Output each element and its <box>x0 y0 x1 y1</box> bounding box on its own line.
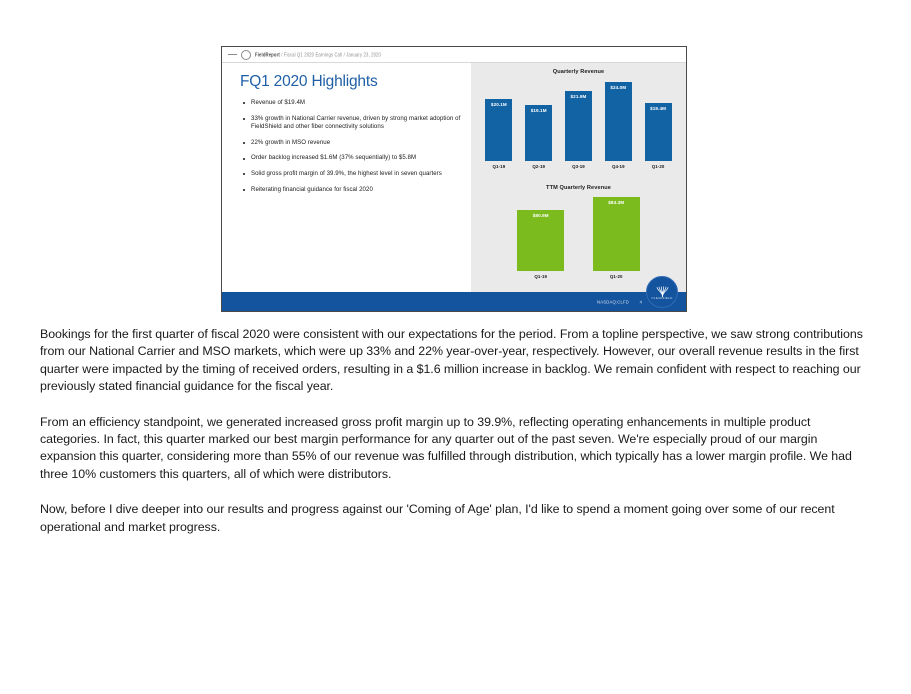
ttm-revenue-plot: $80.9M Q1-19 $84.3M Q1-20 <box>503 197 654 279</box>
bar-category-label: Q4-19 <box>612 164 625 169</box>
bar-column: $20.1M Q1-19 <box>479 81 519 169</box>
chart-title: Quarterly Revenue <box>471 65 686 75</box>
bullet-item: 33% growth in National Carrier revenue, … <box>240 115 461 132</box>
bar-value-label: $80.9M <box>533 213 549 218</box>
bar-column: $24.0M Q4-19 <box>598 81 638 169</box>
transcript-paragraph: Bookings for the first quarter of fiscal… <box>40 326 872 396</box>
bar-q1-19: $20.1M <box>485 99 512 161</box>
slide-page-number: 4 <box>640 299 642 304</box>
slide-header-bar: FieldReport / Fiscal Q1 2020 Earnings Ca… <box>222 47 686 63</box>
bar-q3-19: $21.9M <box>565 91 592 161</box>
slide-bullet-list: Revenue of $19.4M 33% growth in National… <box>240 99 461 194</box>
fiber-burst-icon <box>656 284 669 295</box>
slide-title: FQ1 2020 Highlights <box>240 73 461 91</box>
bar-column: $19.4M Q1-20 <box>638 81 678 169</box>
bullet-item: Order backlog increased $1.6M (37% seque… <box>240 154 461 163</box>
transcript-body: Bookings for the first quarter of fiscal… <box>40 326 872 554</box>
bar-category-label: Q1-19 <box>534 274 547 279</box>
slide-breadcrumb: FieldReport / Fiscal Q1 2020 Earnings Ca… <box>255 51 381 57</box>
bar-value-label: $19.1M <box>531 108 547 113</box>
bar-value-label: $24.0M <box>610 85 626 90</box>
bullet-item: 22% growth in MSO revenue <box>240 139 461 148</box>
slide-brand-label: FieldReport <box>255 51 280 57</box>
bar-value-label: $84.3M <box>608 200 624 205</box>
header-dash-icon <box>228 54 237 55</box>
bar-q2-19: $19.1M <box>525 105 552 161</box>
bar-column: $21.9M Q3-19 <box>559 81 599 169</box>
presentation-slide: FieldReport / Fiscal Q1 2020 Earnings Ca… <box>221 46 687 312</box>
bar-value-label: $20.1M <box>491 102 507 107</box>
bar-category-label: Q1-20 <box>652 164 665 169</box>
slide-content-panel: FQ1 2020 Highlights Revenue of $19.4M 33… <box>222 63 471 292</box>
bar-column: $80.9M Q1-19 <box>503 197 579 279</box>
bar-category-label: Q3-19 <box>572 164 585 169</box>
transcript-paragraph: Now, before I dive deeper into our resul… <box>40 501 872 536</box>
stock-ticker-label: NASDAQ:CLFD <box>597 299 629 304</box>
bar-category-label: Q1-20 <box>610 274 623 279</box>
bar-column: $19.1M Q2-19 <box>519 81 559 169</box>
ttm-quarterly-revenue-chart: TTM Quarterly Revenue $80.9M Q1-19 $84.3… <box>471 181 686 293</box>
bar-column: $84.3M Q1-20 <box>579 197 655 279</box>
slide-charts-panel: Quarterly Revenue $20.1M Q1-19 $19.1M Q2… <box>471 63 686 292</box>
ttm-bar-q1-19: $80.9M <box>517 210 564 271</box>
bar-category-label: Q2-19 <box>532 164 545 169</box>
transcript-paragraph: From an efficiency standpoint, we genera… <box>40 414 872 484</box>
bar-q1-20: $19.4M <box>645 103 672 161</box>
bar-value-label: $19.4M <box>650 106 666 111</box>
chart-title: TTM Quarterly Revenue <box>471 181 686 191</box>
bullet-item: Reiterating financial guidance for fisca… <box>240 186 461 195</box>
slide-breadcrumb-label: / Fiscal Q1 2020 Earnings Call / January… <box>281 51 381 57</box>
bar-q4-19: $24.0M <box>605 82 632 161</box>
ttm-bar-q1-20: $84.3M <box>593 197 640 271</box>
bar-value-label: $21.9M <box>571 94 587 99</box>
quarterly-revenue-chart: Quarterly Revenue $20.1M Q1-19 $19.1M Q2… <box>471 65 686 183</box>
bullet-item: Revenue of $19.4M <box>240 99 461 108</box>
bullet-item: Solid gross profit margin of 39.9%, the … <box>240 170 461 179</box>
quarterly-revenue-plot: $20.1M Q1-19 $19.1M Q2-19 $21.9M Q3-19 <box>479 81 678 169</box>
header-circle-icon <box>241 50 251 60</box>
company-logo: CLEARFIELD <box>646 276 678 308</box>
bar-category-label: Q1-19 <box>493 164 506 169</box>
slide-footer-bar: NASDAQ:CLFD 4 CLEARFIELD <box>222 292 686 311</box>
